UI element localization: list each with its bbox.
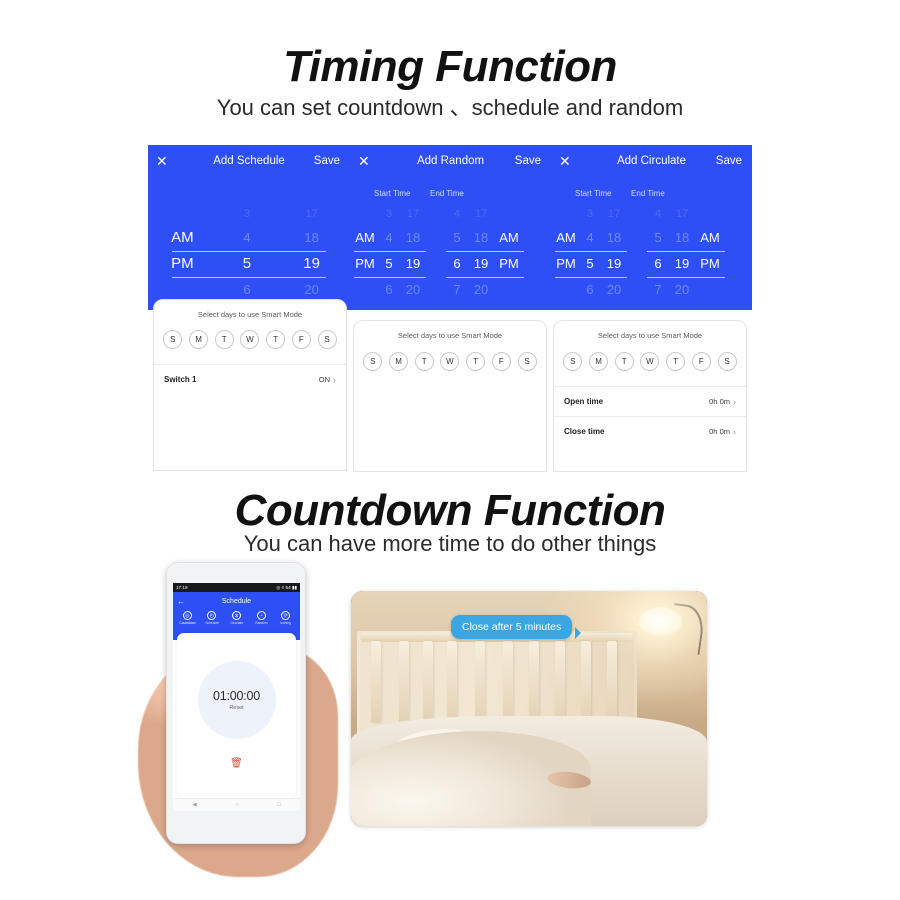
start-hour-next[interactable]: 6: [579, 277, 601, 303]
day-sun[interactable]: S: [363, 352, 382, 371]
statusbar-time: 17:19: [176, 583, 188, 592]
day-thu[interactable]: T: [466, 352, 485, 371]
end-minute-prev[interactable]: 18: [669, 225, 695, 251]
timing-section-title: Timing Function: [0, 42, 900, 92]
tab-schedule[interactable]: ◴ Schedule: [201, 611, 223, 625]
picker-meridiem-pm[interactable]: PM: [148, 251, 217, 277]
day-mon[interactable]: M: [589, 352, 608, 371]
row-label: Close time: [564, 427, 604, 436]
day-mon[interactable]: M: [389, 352, 408, 371]
end-selection-line-bottom: [647, 277, 725, 278]
row-value-text: ON: [319, 375, 330, 384]
speech-bubble: Close after 5 minutes: [451, 615, 572, 639]
trash-icon[interactable]: 🗑: [230, 759, 243, 769]
screen-add-circulate: ✕ Add Circulate Save Start Time End Time…: [551, 145, 752, 310]
nav-back-icon[interactable]: ◀: [192, 802, 196, 808]
smart-mode-card-schedule: Select days to use Smart Mode S M T W T …: [153, 299, 347, 471]
row-label: Switch 1: [164, 375, 196, 384]
start-selection-line-top: [555, 251, 627, 252]
row-value: 0h 0m ›: [709, 397, 736, 407]
end-minute-selected[interactable]: 19: [468, 251, 494, 277]
start-minute-selected[interactable]: 19: [601, 251, 627, 277]
countdown-value: 01:00:00: [213, 689, 260, 703]
circulate-icon: ⧖: [232, 611, 241, 620]
start-hour-prev[interactable]: 4: [378, 225, 400, 251]
end-selection-line-top: [446, 251, 524, 252]
start-hour-selected[interactable]: 5: [378, 251, 400, 277]
day-selector[interactable]: S M T W T F S: [154, 330, 346, 349]
tab-inching[interactable]: ⟳ Inching: [275, 611, 297, 625]
day-sat[interactable]: S: [318, 330, 337, 349]
save-button[interactable]: Save: [314, 154, 340, 168]
smart-mode-card-random: Select days to use Smart Mode S M T W T …: [353, 320, 547, 472]
row-value: 0h 0m ›: [709, 427, 736, 437]
end-minute-selected[interactable]: 19: [669, 251, 695, 277]
screen-3-segment-labels: Start Time End Time: [551, 189, 752, 201]
countdown-panel: 01:00:00 Reset 🗑: [177, 633, 296, 798]
screen-1-navbar: ✕ Add Schedule Save: [148, 154, 350, 172]
day-wed[interactable]: W: [240, 330, 259, 349]
end-time-label: End Time: [430, 189, 464, 198]
reset-label[interactable]: Reset: [229, 705, 243, 711]
row-value: ON ›: [319, 375, 336, 385]
screen-add-random: ✕ Add Random Save Start Time End Time AM…: [350, 145, 551, 310]
day-mon[interactable]: M: [189, 330, 208, 349]
nav-recents-icon[interactable]: □: [277, 802, 280, 808]
screen-2-time-picker[interactable]: AM PM 3 4 5 6 17 18 19 20: [350, 201, 551, 306]
screen-3-navbar: ✕ Add Circulate Save: [551, 154, 752, 172]
day-fri[interactable]: F: [492, 352, 511, 371]
smart-lamp-icon: [639, 607, 683, 637]
timing-section-subtitle: You can set countdown 、schedule and rand…: [0, 90, 900, 122]
day-thu[interactable]: T: [666, 352, 685, 371]
end-meridiem-am[interactable]: AM: [494, 225, 524, 251]
start-minute-selected[interactable]: 19: [400, 251, 426, 277]
row-value-text: 0h 0m: [709, 397, 730, 406]
tab-label: Inching: [280, 621, 290, 625]
picker-selection-line-bottom: [172, 277, 326, 278]
start-meridiem-am[interactable]: AM: [352, 225, 378, 251]
timing-screens-panel: ✕ Add Schedule Save AM PM 3 4 5 6: [148, 145, 752, 310]
end-selection-line-bottom: [446, 277, 524, 278]
end-hour-prev[interactable]: 5: [446, 225, 468, 251]
promo-page: Timing Function You can set countdown 、s…: [0, 0, 900, 900]
screen-1-time-picker[interactable]: AM PM 3 4 5 6 17 18 19 20: [148, 201, 350, 306]
random-icon: ◔: [257, 611, 266, 620]
tab-label: Random: [255, 621, 267, 625]
save-button[interactable]: Save: [716, 154, 742, 168]
start-selection-line-top: [354, 251, 426, 252]
screen-2-navbar: ✕ Add Random Save: [350, 154, 551, 172]
start-hour-selected[interactable]: 5: [579, 251, 601, 277]
android-navbar[interactable]: ◀ ○ □: [173, 798, 300, 811]
picker-hour-selected[interactable]: 5: [217, 251, 278, 277]
day-sat[interactable]: S: [518, 352, 537, 371]
start-time-label: Start Time: [575, 189, 611, 198]
screen-3-time-picker[interactable]: AM PM 3 4 5 6 17 18 19 20: [551, 201, 752, 306]
start-selection-line-bottom: [354, 277, 426, 278]
start-meridiem-pm[interactable]: PM: [553, 251, 579, 277]
phone-tab-bar[interactable]: ◎ Countdown ◴ Schedule ⧖ Circulate ◔: [173, 611, 300, 625]
save-button[interactable]: Save: [515, 154, 541, 168]
card-header: Select days to use Smart Mode: [154, 310, 346, 319]
day-sun[interactable]: S: [163, 330, 182, 349]
day-fri[interactable]: F: [692, 352, 711, 371]
row-label: Open time: [564, 397, 603, 406]
start-minute-prev[interactable]: 18: [601, 225, 627, 251]
tab-circulate[interactable]: ⧖ Circulate: [225, 611, 247, 625]
screen-add-schedule: ✕ Add Schedule Save AM PM 3 4 5 6: [148, 145, 350, 310]
phone-in-hand: 17:19 ◎ ≡ 54 ▮▮ ← Schedule ◎ Countdown ◴…: [138, 562, 353, 882]
day-wed[interactable]: W: [640, 352, 659, 371]
chevron-right-icon: ›: [333, 375, 336, 385]
phone-statusbar: 17:19 ◎ ≡ 54 ▮▮: [173, 583, 300, 592]
picker-meridiem-am[interactable]: AM: [148, 225, 217, 251]
end-meridiem-pm[interactable]: PM: [695, 251, 725, 277]
card-header: Select days to use Smart Mode: [354, 331, 546, 340]
tab-countdown[interactable]: ◎ Countdown: [176, 611, 198, 625]
day-fri[interactable]: F: [292, 330, 311, 349]
day-tue[interactable]: T: [415, 352, 434, 371]
start-time-label: Start Time: [374, 189, 410, 198]
end-minute-next[interactable]: 20: [669, 277, 695, 303]
end-minute-next[interactable]: 20: [468, 277, 494, 303]
end-hour-prev[interactable]: 5: [647, 225, 669, 251]
start-hour-next[interactable]: 6: [378, 277, 400, 303]
day-tue[interactable]: T: [615, 352, 634, 371]
inching-icon: ⟳: [281, 611, 290, 620]
end-meridiem-pm[interactable]: PM: [494, 251, 524, 277]
bedroom-photo: Close after 5 minutes: [351, 591, 707, 826]
schedule-icon: ◴: [207, 611, 216, 620]
countdown-dial[interactable]: 01:00:00 Reset: [198, 661, 276, 739]
chevron-right-icon: ›: [733, 397, 736, 407]
list-item-open-time[interactable]: Open time 0h 0m ›: [554, 386, 746, 416]
day-sun[interactable]: S: [563, 352, 582, 371]
day-selector[interactable]: S M T W T F S: [354, 352, 546, 371]
day-wed[interactable]: W: [440, 352, 459, 371]
tab-random[interactable]: ◔ Random: [250, 611, 272, 625]
card-header: Select days to use Smart Mode: [554, 331, 746, 340]
start-selection-line-bottom: [555, 277, 627, 278]
chevron-right-icon: ›: [733, 427, 736, 437]
end-selection-line-top: [647, 251, 725, 252]
nav-home-icon[interactable]: ○: [235, 802, 238, 808]
end-time-label: End Time: [631, 189, 665, 198]
day-selector[interactable]: S M T W T F S: [554, 352, 746, 371]
picker-minute-selected[interactable]: 19: [277, 251, 346, 277]
day-tue[interactable]: T: [215, 330, 234, 349]
end-hour-next[interactable]: 7: [647, 277, 669, 303]
day-thu[interactable]: T: [266, 330, 285, 349]
end-meridiem-am[interactable]: AM: [695, 225, 725, 251]
row-value-text: 0h 0m: [709, 427, 730, 436]
end-hour-selected[interactable]: 6: [446, 251, 468, 277]
picker-minute-prev[interactable]: 18: [277, 225, 346, 251]
start-minute-next[interactable]: 20: [601, 277, 627, 303]
screen-2-segment-labels: Start Time End Time: [350, 189, 551, 201]
phone-app-title: Schedule: [173, 596, 300, 608]
smart-mode-card-circulate: Select days to use Smart Mode S M T W T …: [553, 320, 747, 472]
end-hour-selected[interactable]: 6: [647, 251, 669, 277]
start-minute-prev[interactable]: 18: [400, 225, 426, 251]
picker-selection-line-top: [172, 251, 326, 252]
tab-label: Circulate: [230, 621, 243, 625]
day-sat[interactable]: S: [718, 352, 737, 371]
start-hour-prev[interactable]: 4: [579, 225, 601, 251]
list-item-switch-1[interactable]: Switch 1 ON ›: [154, 364, 346, 394]
picker-hour-prev[interactable]: 4: [217, 225, 278, 251]
smartphone-device: 17:19 ◎ ≡ 54 ▮▮ ← Schedule ◎ Countdown ◴…: [166, 562, 306, 844]
start-minute-next[interactable]: 20: [400, 277, 426, 303]
countdown-icon: ◎: [183, 611, 192, 620]
end-minute-prev[interactable]: 18: [468, 225, 494, 251]
countdown-section-subtitle: You can have more time to do other thing…: [0, 531, 900, 557]
tab-label: Schedule: [205, 621, 218, 625]
list-item-close-time[interactable]: Close time 0h 0m ›: [554, 416, 746, 446]
start-meridiem-am[interactable]: AM: [553, 225, 579, 251]
end-hour-next[interactable]: 7: [446, 277, 468, 303]
phone-screen: 17:19 ◎ ≡ 54 ▮▮ ← Schedule ◎ Countdown ◴…: [173, 583, 300, 811]
statusbar-icons: ◎ ≡ 54 ▮▮: [276, 583, 297, 592]
start-meridiem-pm[interactable]: PM: [352, 251, 378, 277]
tab-label: Countdown: [179, 621, 195, 625]
countdown-section-title: Countdown Function: [0, 486, 900, 536]
